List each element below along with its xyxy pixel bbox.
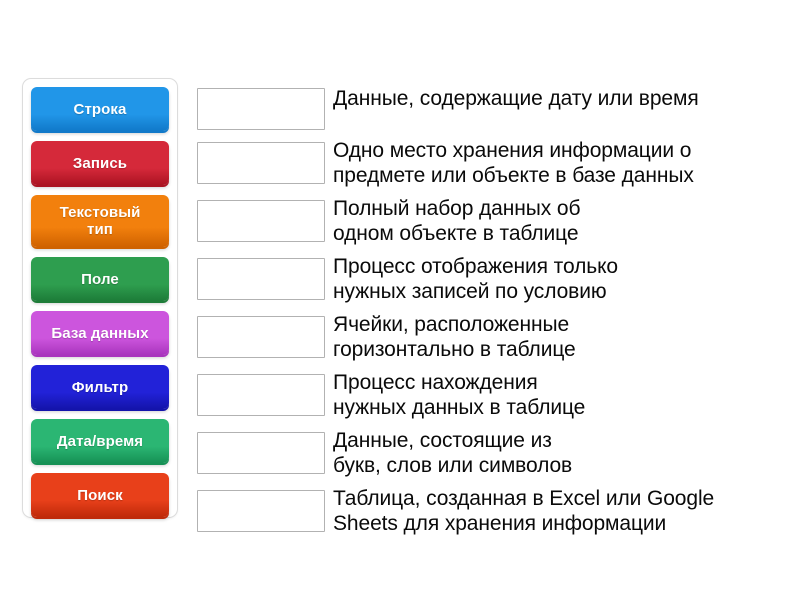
term-tile-7[interactable]: Поиск <box>31 473 169 517</box>
definition-text-2: Полный набор данных об одном объекте в т… <box>333 196 787 246</box>
match-row: Одно место хранения информации о предмет… <box>197 140 787 188</box>
drop-slot-7[interactable] <box>197 490 325 532</box>
drop-slot-2[interactable] <box>197 200 325 242</box>
term-tile-1[interactable]: Запись <box>31 141 169 185</box>
term-tile-label: Поиск <box>77 487 123 504</box>
definition-text-4: Ячейки, расположенные горизонтально в та… <box>333 312 787 362</box>
drop-slot-3[interactable] <box>197 258 325 300</box>
terms-panel: СтрокаЗаписьТекстовый типПолеБаза данных… <box>22 78 178 518</box>
term-tile-5[interactable]: Фильтр <box>31 365 169 409</box>
definition-text-0: Данные, содержащие дату или время <box>333 86 787 111</box>
term-tile-label: База данных <box>51 325 148 342</box>
drop-slot-0[interactable] <box>197 88 325 130</box>
term-tile-3[interactable]: Поле <box>31 257 169 301</box>
term-tile-label: Строка <box>74 101 127 118</box>
term-tile-label: Текстовый тип <box>60 204 141 238</box>
match-row: Данные, содержащие дату или время <box>197 86 787 130</box>
match-row: Ячейки, расположенные горизонтально в та… <box>197 314 787 362</box>
definition-text-7: Таблица, созданная в Excel или Google Sh… <box>333 486 787 536</box>
term-tile-label: Фильтр <box>72 379 129 396</box>
definition-text-5: Процесс нахождения нужных данных в табли… <box>333 370 787 420</box>
drop-slot-1[interactable] <box>197 142 325 184</box>
definition-text-6: Данные, состоящие из букв, слов или симв… <box>333 428 787 478</box>
term-tile-2[interactable]: Текстовый тип <box>31 195 169 247</box>
match-row: Данные, состоящие из букв, слов или симв… <box>197 430 787 478</box>
term-tile-4[interactable]: База данных <box>31 311 169 355</box>
drop-slot-4[interactable] <box>197 316 325 358</box>
term-tile-6[interactable]: Дата/время <box>31 419 169 463</box>
term-tile-label: Дата/время <box>57 433 143 450</box>
term-tile-label: Поле <box>81 271 119 288</box>
term-tile-0[interactable]: Строка <box>31 87 169 131</box>
match-row: Таблица, созданная в Excel или Google Sh… <box>197 488 787 536</box>
activity-stage: СтрокаЗаписьТекстовый типПолеБаза данных… <box>0 0 800 600</box>
match-row: Полный набор данных об одном объекте в т… <box>197 198 787 246</box>
definition-text-1: Одно место хранения информации о предмет… <box>333 138 787 188</box>
match-rows-container: Данные, содержащие дату или времяОдно ме… <box>197 86 787 546</box>
match-row: Процесс нахождения нужных данных в табли… <box>197 372 787 420</box>
drop-slot-5[interactable] <box>197 374 325 416</box>
term-tile-label: Запись <box>73 155 127 172</box>
drop-slot-6[interactable] <box>197 432 325 474</box>
definition-text-3: Процесс отображения только нужных записе… <box>333 254 787 304</box>
match-row: Процесс отображения только нужных записе… <box>197 256 787 304</box>
